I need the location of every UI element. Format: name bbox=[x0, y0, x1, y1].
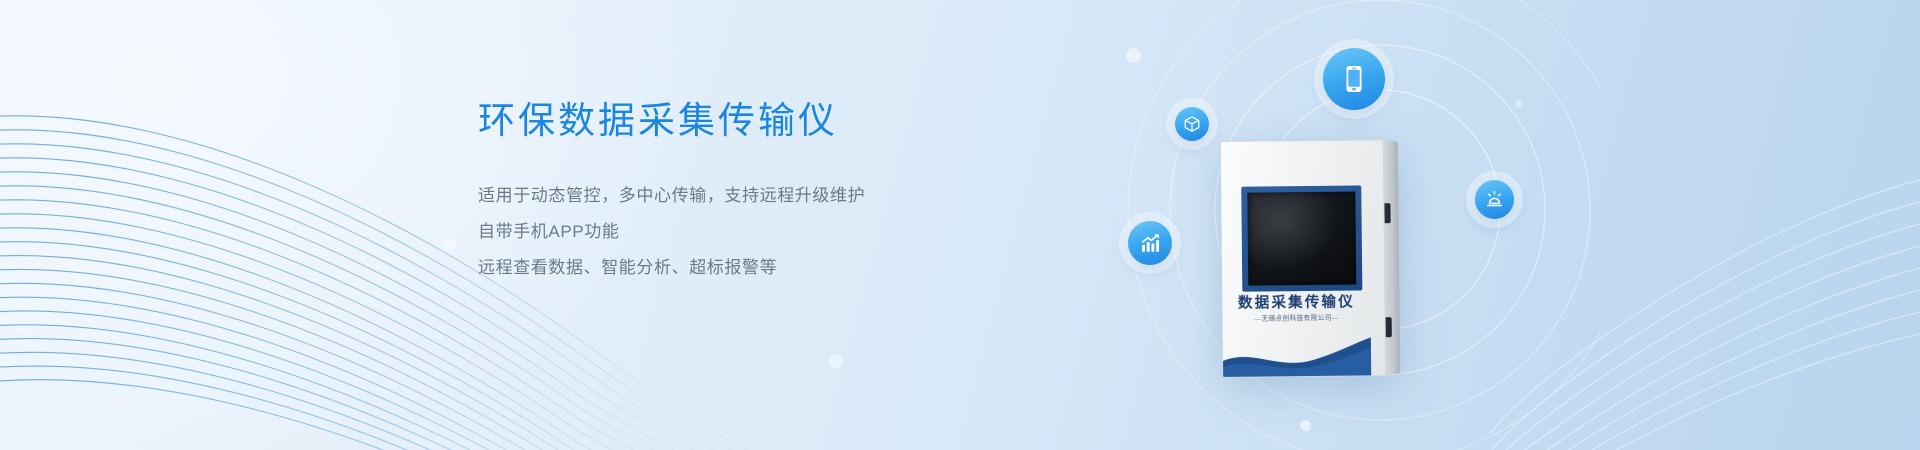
feature-item: 自带手机APP功能 bbox=[478, 214, 1038, 250]
decorative-dot bbox=[443, 238, 456, 251]
product-device-image: 数据采集传输仪 —无锡点创科技有限公司— bbox=[1220, 139, 1400, 378]
device-screen-bezel bbox=[1241, 185, 1362, 291]
diagonal-lines-decoration bbox=[1490, 170, 1920, 450]
phone-icon bbox=[1323, 48, 1385, 110]
decorative-dot bbox=[1300, 420, 1311, 431]
device-front-panel: 数据采集传输仪 —无锡点创科技有限公司— bbox=[1220, 139, 1386, 378]
chart-icon bbox=[1128, 221, 1172, 265]
decorative-dot bbox=[829, 354, 843, 368]
feature-item: 远程查看数据、智能分析、超标报警等 bbox=[478, 250, 1038, 286]
hero-copy: 环保数据采集传输仪 适用于动态管控，多中心传输，支持远程升级维护 自带手机APP… bbox=[478, 98, 1038, 286]
device-wave-graphic bbox=[1223, 329, 1371, 377]
decorative-dot bbox=[1126, 48, 1141, 63]
device-brand-label: 数据采集传输仪 bbox=[1222, 290, 1370, 313]
page-title: 环保数据采集传输仪 bbox=[478, 98, 1038, 144]
product-hero-banner: 环保数据采集传输仪 适用于动态管控，多中心传输，支持远程升级维护 自带手机APP… bbox=[0, 0, 1920, 450]
cube-icon bbox=[1175, 107, 1209, 141]
decorative-dot bbox=[1515, 100, 1523, 108]
alarm-icon bbox=[1475, 180, 1514, 219]
feature-list: 适用于动态管控，多中心传输，支持远程升级维护 自带手机APP功能 远程查看数据、… bbox=[478, 178, 1038, 286]
feature-item: 适用于动态管控，多中心传输，支持远程升级维护 bbox=[478, 178, 1038, 214]
device-screen bbox=[1247, 192, 1356, 286]
device-company-label: —无锡点创科技有限公司— bbox=[1226, 313, 1367, 324]
